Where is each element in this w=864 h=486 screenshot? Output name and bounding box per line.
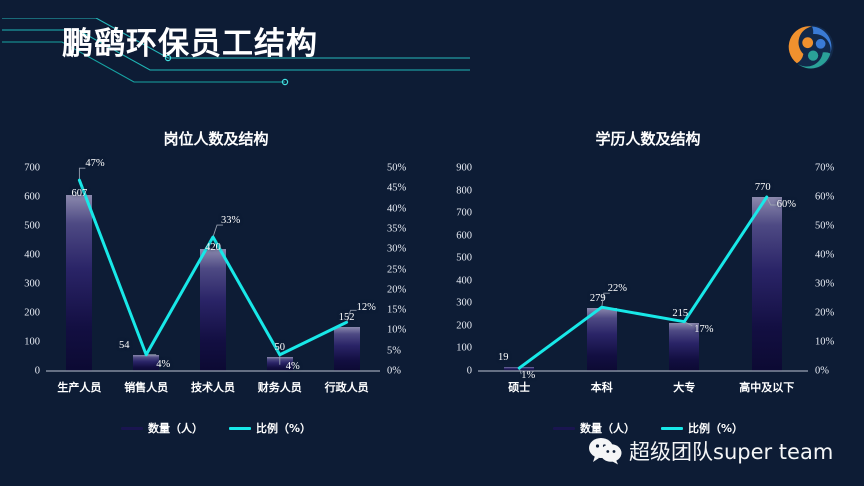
slide-canvas: 鹏鹞环保员工结构 岗位人数及结构 01002003004005006007000… (0, 0, 864, 486)
x-axis-category-label: 高中及以下 (739, 379, 794, 395)
label-leader-line (767, 197, 777, 205)
chart-svg-overlay (432, 146, 864, 411)
legend-item-bar[interactable]: 数量（人） (553, 420, 635, 436)
bar-value-label: 152 (339, 312, 355, 323)
legend-swatch-line (661, 427, 683, 430)
bar-value-label: 215 (672, 308, 688, 319)
percentage-line (519, 197, 767, 368)
percentage-label: 47% (85, 158, 104, 169)
legend-swatch-bar (121, 427, 143, 430)
bar-value-label: 420 (205, 242, 221, 253)
legend-label-line: 比例（%） (256, 420, 311, 436)
legend-label-line: 比例（%） (688, 420, 743, 436)
bar-value-label: 279 (590, 293, 606, 304)
legend-swatch-bar (553, 427, 575, 430)
percentage-line (79, 180, 346, 355)
bar-value-label: 50 (275, 342, 286, 353)
x-axis-category-label: 财务人员 (258, 379, 302, 395)
percentage-label: 12% (357, 302, 376, 313)
x-axis-category-label: 行政人员 (325, 379, 369, 395)
legend-item-line[interactable]: 比例（%） (661, 420, 743, 436)
legend-swatch-line (229, 427, 251, 430)
chart-panel-position: 岗位人数及结构 01002003004005006007000%5%10%15%… (0, 120, 432, 456)
bar-value-label: 54 (119, 340, 130, 351)
x-axis-category-label: 大专 (673, 379, 695, 395)
chart-panel-education: 学历人数及结构 01002003004005006007008009000%10… (432, 120, 864, 456)
legend-label-bar: 数量（人） (580, 420, 635, 436)
x-axis-category-label: 生产人员 (57, 379, 101, 395)
x-axis-category-label: 本科 (591, 379, 613, 395)
watermark: 超级团队super team (588, 436, 833, 466)
percentage-label: 4% (156, 359, 170, 370)
legend-item-line[interactable]: 比例（%） (229, 420, 311, 436)
chart-svg-overlay (0, 146, 432, 411)
label-leader-line (213, 225, 223, 237)
label-leader-line (79, 168, 85, 180)
x-axis-category-label: 技术人员 (191, 379, 235, 395)
slide-header: 鹏鹞环保员工结构 (0, 0, 864, 92)
legend-label-bar: 数量（人） (148, 420, 203, 436)
x-axis-category-label: 销售人员 (124, 379, 168, 395)
percentage-label: 4% (286, 361, 300, 372)
percentage-label: 22% (608, 283, 627, 294)
chart-legend-position: 数量（人） 比例（%） (0, 420, 432, 436)
company-logo (785, 20, 839, 74)
watermark-text: 超级团队super team (629, 436, 833, 466)
x-axis-category-label: 硕士 (508, 379, 530, 395)
page-title: 鹏鹞环保员工结构 (62, 18, 318, 63)
bar-value-label: 770 (755, 182, 771, 193)
wechat-icon (588, 437, 622, 465)
chart-legend-education: 数量（人） 比例（%） (432, 420, 864, 436)
bar-value-label: 607 (72, 188, 88, 199)
chart-plot-education: 01002003004005006007008009000%10%20%30%4… (432, 146, 864, 411)
legend-item-bar[interactable]: 数量（人） (121, 420, 203, 436)
percentage-label: 60% (777, 199, 796, 210)
bar-value-label: 19 (498, 352, 509, 363)
percentage-label: 17% (694, 324, 713, 335)
percentage-label: 33% (221, 215, 240, 226)
chart-plot-position: 01002003004005006007000%5%10%15%20%25%30… (0, 146, 432, 411)
